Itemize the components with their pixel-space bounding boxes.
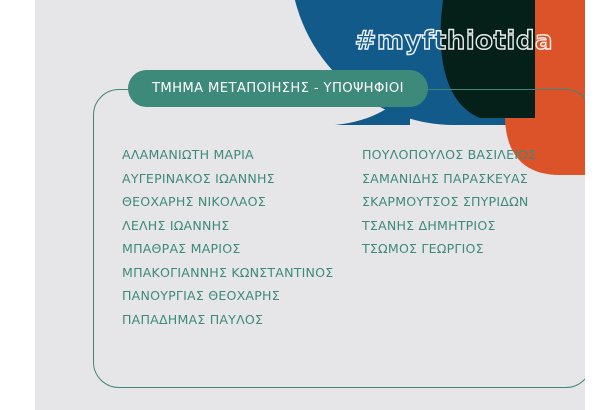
candidate-columns: ΑΛΑΜΑΝΙΩΤΗ ΜΑΡΙΑ ΑΥΓΕΡΙΝΑΚΟΣ ΙΩΑΝΝΗΣ ΘΕΟ… [122,143,572,331]
candidate-name: ΣΚΑΡΜΟΥΤΣΟΣ ΣΠΥΡΙΔΩΝ [362,190,572,214]
candidate-name: ΣΑΜΑΝΙΔΗΣ ΠΑΡΑΣΚΕΥΑΣ [362,167,572,191]
section-title-badge: ΤΜΗΜΑ ΜΕΤΑΠΟΙΗΣΗΣ - ΥΠΟΨΗΦΙΟΙ [128,70,428,107]
candidate-name: ΜΠΑΘΡΑΣ ΜΑΡΙΟΣ [122,237,362,261]
slide-root: #myfthiotida ΤΜΗΜΑ ΜΕΤΑΠΟΙΗΣΗΣ - ΥΠΟΨΗΦΙ… [0,0,615,410]
candidate-name: ΠΟΥΛΟΠΟΥΛΟΣ ΒΑΣΙΛΕΙΟΣ [362,143,572,167]
candidate-name: ΤΣΑΝΗΣ ΔΗΜΗΤΡΙΟΣ [362,214,572,238]
candidate-column-left: ΑΛΑΜΑΝΙΩΤΗ ΜΑΡΙΑ ΑΥΓΕΡΙΝΑΚΟΣ ΙΩΑΝΝΗΣ ΘΕΟ… [122,143,362,331]
section-title-label: ΤΜΗΜΑ ΜΕΤΑΠΟΙΗΣΗΣ - ΥΠΟΨΗΦΙΟΙ [152,82,404,95]
candidate-column-right: ΠΟΥΛΟΠΟΥΛΟΣ ΒΑΣΙΛΕΙΟΣ ΣΑΜΑΝΙΔΗΣ ΠΑΡΑΣΚΕΥ… [362,143,572,331]
candidate-name: ΘΕΟΧΑΡΗΣ ΝΙΚΟΛΑΟΣ [122,190,362,214]
candidate-name: ΠΑΠΑΔΗΜΑΣ ΠΑΥΛΟΣ [122,308,362,332]
candidate-name: ΑΛΑΜΑΝΙΩΤΗ ΜΑΡΙΑ [122,143,362,167]
candidate-name: ΜΠΑΚΟΓΙΑΝΝΗΣ ΚΩΝΣΤΑΝΤΙΝΟΣ [122,261,362,285]
candidate-name: ΛΕΛΗΣ ΙΩΑΝΝΗΣ [122,214,362,238]
candidate-name: ΑΥΓΕΡΙΝΑΚΟΣ ΙΩΑΝΝΗΣ [122,167,362,191]
candidate-name: ΠΑΝΟΥΡΓΙΑΣ ΘΕΟΧΑΡΗΣ [122,284,362,308]
slide-canvas: #myfthiotida ΤΜΗΜΑ ΜΕΤΑΠΟΙΗΣΗΣ - ΥΠΟΨΗΦΙ… [35,0,585,410]
watermark-logo: #myfthiotida [355,28,553,54]
candidate-name: ΤΣΩΜΟΣ ΓΕΩΡΓΙΟΣ [362,237,572,261]
